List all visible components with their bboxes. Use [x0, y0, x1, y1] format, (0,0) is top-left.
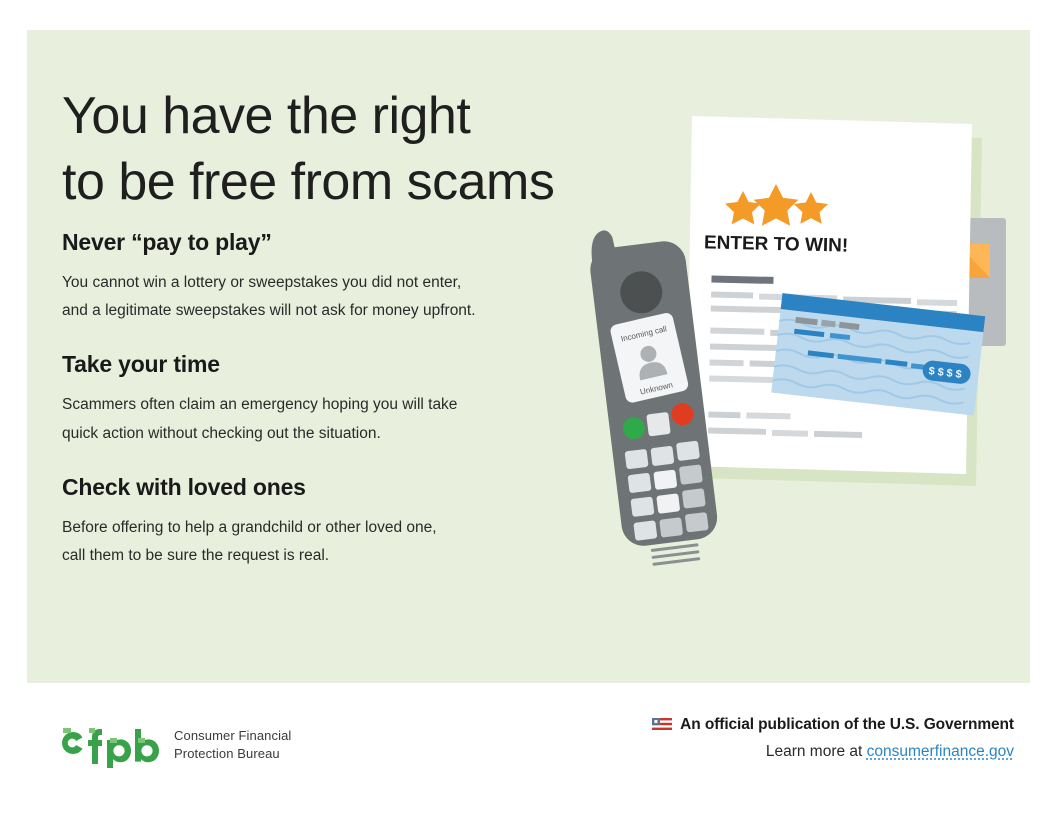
learn-more-prefix: Learn more at	[766, 743, 863, 760]
tip-heading: Check with loved ones	[62, 474, 642, 501]
learn-more-line: Learn more at consumerfinance.gov	[652, 743, 1014, 761]
page-title: You have the right to be free from scams	[62, 84, 642, 215]
tip-body-line-1: Before offering to help a grandchild or …	[62, 514, 642, 542]
tip-body: You cannot win a lottery or sweepstakes …	[62, 269, 642, 325]
poster-canvas: ENTER TO WIN!	[0, 0, 1056, 816]
tip-body: Scammers often claim an emergency hoping…	[62, 391, 642, 447]
tip-body-line-1: Scammers often claim an emergency hoping…	[62, 391, 642, 419]
cfpb-branding: Consumer Financial Protection Bureau	[52, 722, 291, 768]
scam-illustration: ENTER TO WIN!	[580, 96, 1050, 566]
cfpb-logo-icon	[52, 722, 160, 768]
agency-name-line-2: Protection Bureau	[174, 745, 291, 763]
tip-body: Before offering to help a grandchild or …	[62, 514, 642, 570]
tip-heading: Take your time	[62, 351, 642, 378]
headline-line-1: You have the right	[62, 84, 642, 150]
official-publication-line: An official publication of the U.S. Gove…	[652, 716, 1014, 734]
tip-body-line-2: quick action without checking out the si…	[62, 420, 642, 448]
flyer-paper: ENTER TO WIN!	[686, 116, 972, 474]
content-column: You have the right to be free from scams…	[62, 84, 642, 570]
us-flag-icon	[652, 718, 672, 732]
phone-microphone-grille	[651, 543, 701, 566]
consumerfinance-link[interactable]: consumerfinance.gov	[867, 743, 1014, 760]
tip-section-check-with-loved-ones: Check with loved ones Before offering to…	[62, 474, 642, 570]
tip-body-line-2: call them to be sure the request is real…	[62, 542, 642, 570]
official-publication-text: An official publication of the U.S. Gove…	[680, 716, 1014, 734]
publication-footer: An official publication of the U.S. Gove…	[652, 716, 1014, 761]
tip-section-take-your-time: Take your time Scammers often claim an e…	[62, 351, 642, 447]
agency-name-line-1: Consumer Financial	[174, 727, 291, 745]
tip-heading: Never “pay to play”	[62, 229, 642, 256]
headline-line-2: to be free from scams	[62, 150, 642, 216]
flyer-headline-text: ENTER TO WIN!	[704, 232, 849, 256]
agency-name: Consumer Financial Protection Bureau	[174, 727, 291, 764]
tip-body-line-1: You cannot win a lottery or sweepstakes …	[62, 269, 642, 297]
tip-body-line-2: and a legitimate sweepstakes will not as…	[62, 297, 642, 325]
tip-section-pay-to-play: Never “pay to play” You cannot win a lot…	[62, 229, 642, 325]
